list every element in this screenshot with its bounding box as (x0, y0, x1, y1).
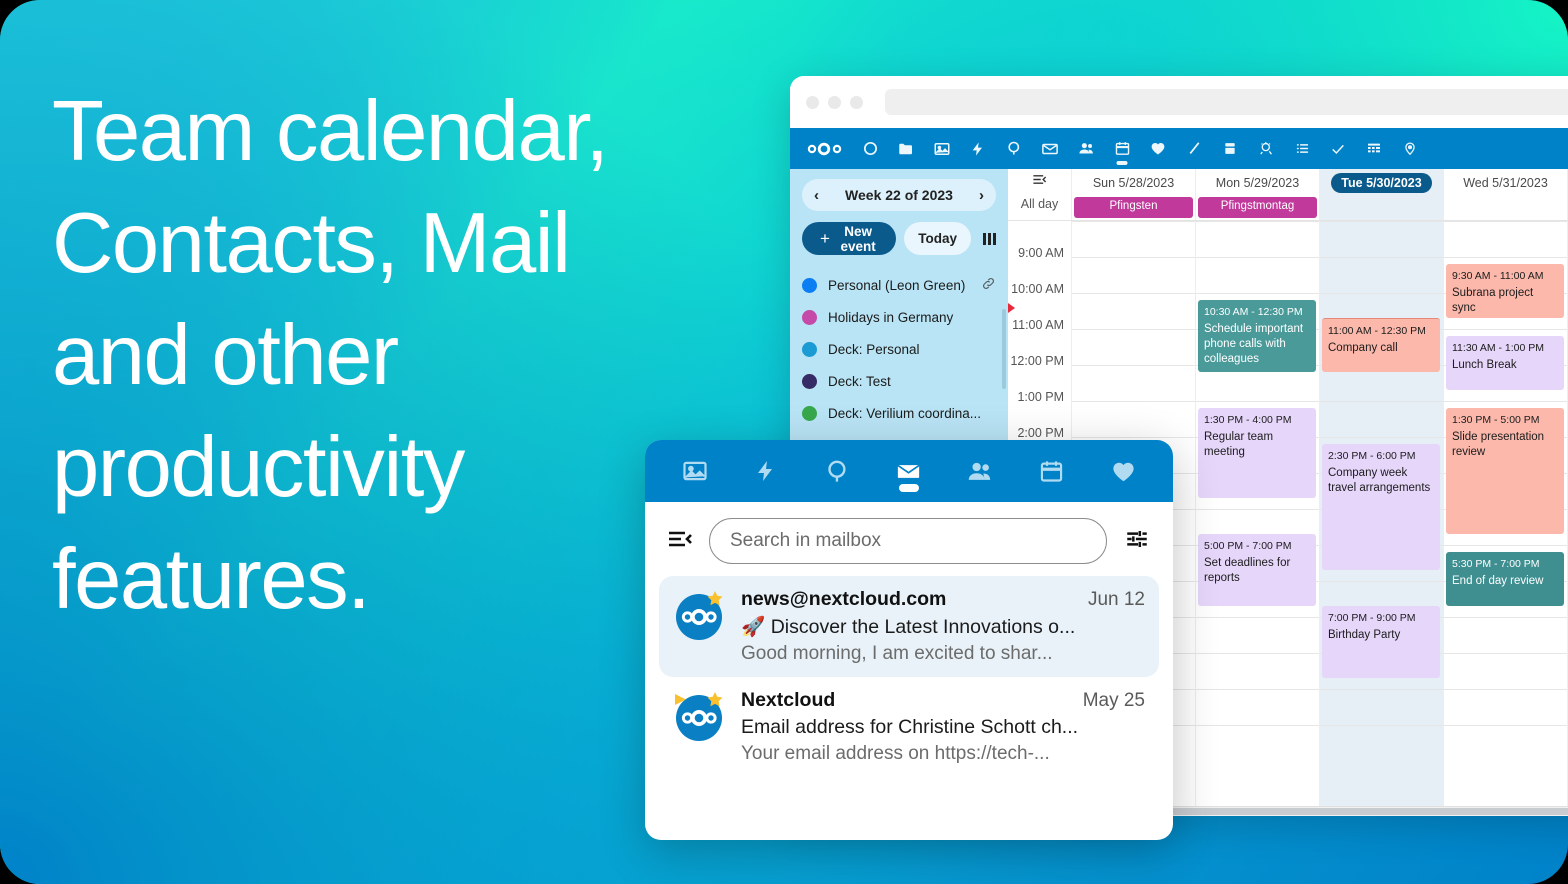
calendar-event[interactable]: 11:30 AM - 1:00 PM Lunch Break (1446, 336, 1564, 390)
window-controls[interactable] (806, 96, 863, 109)
event-time: 11:00 AM - 12:30 PM (1328, 324, 1434, 339)
grid-hour-line (1320, 725, 1443, 726)
calendar-event[interactable]: 9:30 AM - 11:00 AM Subrana project sync (1446, 264, 1564, 318)
grid-hour-line (1196, 725, 1319, 726)
grid-header: All day Sun 5/28/2023 Pfingsten Mon 5/29… (1008, 169, 1568, 221)
calendar-event[interactable]: 1:30 PM - 4:00 PM Regular team meeting (1198, 408, 1316, 498)
nextcloud-logo-icon[interactable] (798, 142, 852, 156)
mail-icon[interactable] (1032, 128, 1068, 169)
mail-subject: 🚀 Discover the Latest Innovations o... (741, 615, 1145, 639)
grid-hour-line (1444, 545, 1567, 546)
hour-label: 10:00 AM (1008, 257, 1071, 293)
promo-banner: Team calendar, Contacts, Mail and other … (0, 0, 1568, 884)
activity-icon[interactable] (960, 128, 996, 169)
event-time: 1:30 PM - 5:00 PM (1452, 413, 1558, 428)
day-header-tue[interactable]: Tue 5/30/2023 (1320, 169, 1444, 220)
event-time: 7:00 PM - 9:00 PM (1328, 611, 1434, 626)
contacts-icon[interactable] (957, 440, 1003, 502)
grid-hour-line (1072, 221, 1195, 222)
calendar-name: Deck: Personal (828, 342, 996, 357)
mail-content: Nextcloud May 25 Email address for Chris… (741, 689, 1145, 765)
calendar-color-dot (802, 310, 817, 325)
list-item[interactable]: Personal (Leon Green) (802, 269, 996, 301)
list-item[interactable]: Nextcloud May 25 Email address for Chris… (659, 677, 1159, 777)
grid-hour-line (1320, 581, 1443, 582)
all-day-label: All day (1021, 197, 1059, 211)
grid-hour-line (1320, 437, 1443, 438)
grid-hour-line (1196, 257, 1319, 258)
search-input[interactable]: Search in mailbox (709, 518, 1107, 564)
today-button[interactable]: Today (904, 222, 971, 255)
allday-row (1320, 193, 1443, 218)
next-week-button[interactable]: › (979, 187, 984, 204)
grid-hour-line (1320, 401, 1443, 402)
calendar-color-dot (802, 374, 817, 389)
event-title: Regular team meeting (1204, 430, 1310, 460)
tables-icon[interactable] (1356, 128, 1392, 169)
activity-icon[interactable] (743, 440, 789, 502)
day-column-mon[interactable]: 10:30 AM - 12:30 PM Schedule important p… (1196, 221, 1320, 806)
event-title: End of day review (1452, 574, 1558, 589)
collapse-gutter-icon[interactable] (1032, 174, 1047, 188)
day-column-tue[interactable]: 11:00 AM - 12:30 PM Company call 2:30 PM… (1320, 221, 1444, 806)
list-item[interactable]: Holidays in Germany (802, 301, 996, 333)
grid-hour-line (1320, 689, 1443, 690)
event-title: Company call (1328, 341, 1434, 356)
hour-label: 1:00 PM (1008, 365, 1071, 401)
grid-hour-line (1444, 689, 1567, 690)
event-title: Slide presentation review (1452, 430, 1558, 460)
calendar-event[interactable]: 11:00 AM - 12:30 PM Company call (1322, 318, 1440, 372)
search-icon[interactable] (996, 128, 1032, 169)
sidebar-scrollbar[interactable] (1002, 309, 1006, 389)
calendar-event[interactable]: 5:30 PM - 7:00 PM End of day review (1446, 552, 1564, 606)
calendar-event[interactable]: 5:00 PM - 7:00 PM Set deadlines for repo… (1198, 534, 1316, 606)
grid-hour-line (1444, 221, 1567, 222)
hour-label: 11:00 AM (1008, 293, 1071, 329)
mail-preview: Good morning, I am excited to shar... (741, 643, 1145, 665)
grid-hour-line (1320, 221, 1443, 222)
mail-date: May 25 (1083, 690, 1145, 712)
week-label: Week 22 of 2023 (845, 187, 953, 203)
grid-hour-line (1196, 509, 1319, 510)
event-time: 9:30 AM - 11:00 AM (1452, 269, 1558, 284)
minimize-button[interactable] (828, 96, 841, 109)
calendar-name: Deck: Test (828, 374, 996, 389)
calendar-name: Personal (Leon Green) (828, 278, 981, 293)
event-title: Schedule important phone calls with coll… (1204, 322, 1310, 367)
grid-hour-line (1320, 293, 1443, 294)
mail-header-line: news@nextcloud.com Jun 12 (741, 588, 1145, 611)
prev-week-button[interactable]: ‹ (814, 187, 819, 204)
day-name: Tue 5/30/2023 (1331, 173, 1431, 193)
new-event-button[interactable]: + New event (802, 222, 896, 255)
grid-hour-line (1196, 293, 1319, 294)
grid-hour-line (1072, 437, 1195, 438)
hour-label: 2:00 PM (1008, 401, 1071, 437)
close-button[interactable] (806, 96, 819, 109)
grid-hour-line (1444, 653, 1567, 654)
event-time: 5:00 PM - 7:00 PM (1204, 539, 1310, 554)
event-title: Lunch Break (1452, 358, 1558, 373)
maximize-button[interactable] (850, 96, 863, 109)
grid-hour-line (1444, 401, 1567, 402)
mail-sender: Nextcloud (741, 689, 835, 712)
allday-event[interactable]: Pfingsten (1074, 197, 1193, 218)
list-item[interactable]: Deck: Test (802, 365, 996, 397)
week-view-icon[interactable] (983, 233, 996, 245)
grid-hour-line (1072, 329, 1195, 330)
grid-hour-line (1072, 365, 1195, 366)
search-placeholder: Search in mailbox (730, 530, 881, 552)
calendar-event[interactable]: 2:30 PM - 6:00 PM Company week travel ar… (1322, 444, 1440, 570)
event-title: Birthday Party (1328, 628, 1434, 643)
day-name: Mon 5/29/2023 (1196, 173, 1319, 195)
calendar-color-dot (802, 406, 817, 421)
grid-hour-line (1444, 617, 1567, 618)
contacts-icon[interactable] (1068, 128, 1104, 169)
grid-hour-line (1072, 257, 1195, 258)
calendar-color-dot (802, 278, 817, 293)
tasks-icon[interactable] (1284, 128, 1320, 169)
mail-content: news@nextcloud.com Jun 12 🚀 Discover the… (741, 588, 1145, 665)
mail-preview: Your email address on https://tech-... (741, 743, 1145, 765)
calendar-list: Personal (Leon Green) Holidays in German… (802, 269, 996, 429)
event-time: 1:30 PM - 4:00 PM (1204, 413, 1310, 428)
event-time: 5:30 PM - 7:00 PM (1452, 557, 1558, 572)
files-icon[interactable] (888, 128, 924, 169)
deck-icon[interactable] (1212, 128, 1248, 169)
grid-hour-line (1196, 653, 1319, 654)
photos-icon[interactable] (924, 128, 960, 169)
avatar (673, 689, 727, 743)
day-name: Sun 5/28/2023 (1072, 173, 1195, 195)
hour-label: 9:00 AM (1008, 221, 1071, 257)
day-header-wed[interactable]: Wed 5/31/2023 (1444, 169, 1568, 220)
list-item[interactable]: Deck: Personal (802, 333, 996, 365)
grid-hour-line (1196, 221, 1319, 222)
day-header-mon[interactable]: Mon 5/29/2023 Pfingstmontag (1196, 169, 1320, 220)
calendar-actions: + New event Today (802, 222, 996, 255)
day-header-sun[interactable]: Sun 5/28/2023 Pfingsten (1072, 169, 1196, 220)
heart-icon[interactable] (1100, 440, 1146, 502)
nextcloud-topbar (790, 128, 1568, 169)
event-title: Company week travel arrangements (1328, 466, 1434, 496)
search-icon[interactable] (815, 440, 861, 502)
calendar-event[interactable]: 10:30 AM - 12:30 PM Schedule important p… (1198, 300, 1316, 372)
calendar-event[interactable]: 7:00 PM - 9:00 PM Birthday Party (1322, 606, 1440, 678)
event-time: 10:30 AM - 12:30 PM (1204, 305, 1310, 320)
calendar-name: Holidays in Germany (828, 310, 996, 325)
allday-row: Pfingsten (1072, 195, 1195, 220)
event-time: 2:30 PM - 6:00 PM (1328, 449, 1434, 464)
allday-row (1444, 195, 1567, 220)
calendar-name: Deck: Verilium coordina... (828, 406, 996, 421)
grid-hour-line (1444, 257, 1567, 258)
page-title: Team calendar, Contacts, Mail and other … (52, 76, 742, 636)
grid-hour-line (1072, 401, 1195, 402)
share-link-icon[interactable] (981, 276, 996, 294)
day-name: Wed 5/31/2023 (1444, 173, 1567, 195)
gutter-header: All day (1008, 169, 1072, 220)
grid-hour-line (1196, 689, 1319, 690)
event-title: Set deadlines for reports (1204, 556, 1310, 586)
mail-date: Jun 12 (1088, 589, 1145, 611)
checkmark-icon[interactable] (1320, 128, 1356, 169)
filter-sliders-icon[interactable] (1123, 526, 1151, 557)
grid-hour-line (1196, 617, 1319, 618)
grid-hour-line (1196, 401, 1319, 402)
dashboard-icon[interactable] (852, 128, 888, 169)
address-bar[interactable] (885, 89, 1568, 115)
event-time: 11:30 AM - 1:00 PM (1452, 341, 1558, 356)
grid-hour-line (1444, 725, 1567, 726)
grid-hour-line (1444, 329, 1567, 330)
allday-row: Pfingstmontag (1196, 195, 1319, 220)
new-event-label: New event (838, 224, 878, 254)
mail-header-line: Nextcloud May 25 (741, 689, 1145, 712)
collectives-icon[interactable] (1248, 128, 1284, 169)
mail-sender: news@nextcloud.com (741, 588, 946, 611)
day-column-wed[interactable]: 9:30 AM - 11:00 AM Subrana project sync … (1444, 221, 1568, 806)
calendar-icon[interactable] (1104, 128, 1140, 169)
hour-label: 12:00 PM (1008, 329, 1071, 365)
grid-hour-line (1320, 257, 1443, 258)
maps-icon[interactable] (1392, 128, 1428, 169)
allday-event[interactable]: Pfingstmontag (1198, 197, 1317, 218)
list-item[interactable]: Deck: Verilium coordina... (802, 397, 996, 429)
plus-icon: + (820, 230, 830, 247)
mail-subject: Email address for Christine Schott ch... (741, 716, 1145, 739)
event-title: Subrana project sync (1452, 286, 1558, 316)
calendar-color-dot (802, 342, 817, 357)
grid-hour-line (1072, 293, 1195, 294)
notes-icon[interactable] (1176, 128, 1212, 169)
calendar-icon[interactable] (1029, 440, 1075, 502)
current-time-marker (1008, 303, 1015, 313)
heart-icon[interactable] (1140, 128, 1176, 169)
mail-icon[interactable] (886, 440, 932, 502)
calendar-event[interactable]: 1:30 PM - 5:00 PM Slide presentation rev… (1446, 408, 1564, 534)
browser-chrome (790, 76, 1568, 128)
week-navigator[interactable]: ‹ Week 22 of 2023 › (802, 179, 996, 211)
